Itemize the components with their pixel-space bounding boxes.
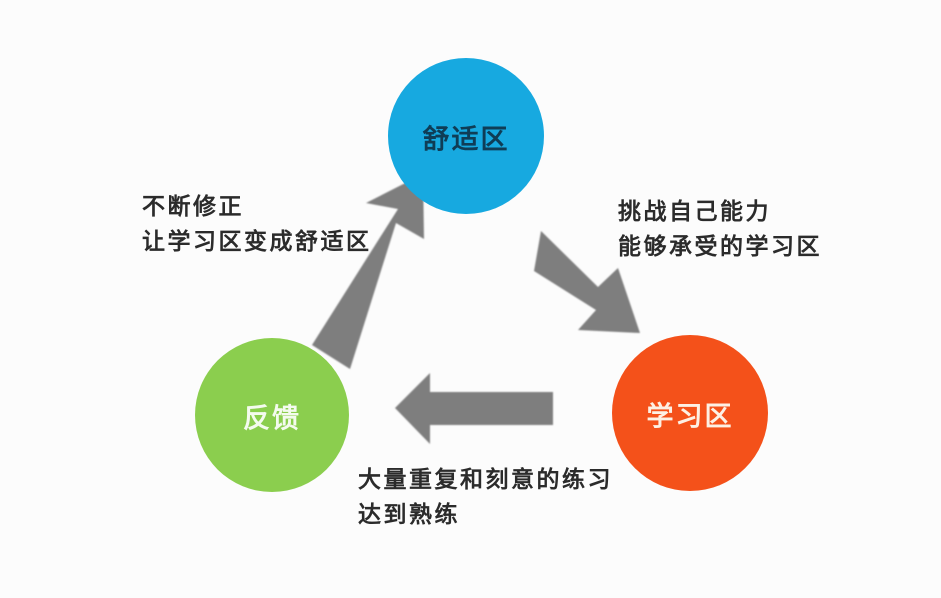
edge-caption-comfort-to-learning: 挑战自己能力 能够承受的学习区 xyxy=(618,195,822,264)
edge-caption-learning-to-feedback: 大量重复和刻意的练习 达到熟练 xyxy=(358,463,613,532)
edge-caption-line: 大量重复和刻意的练习 xyxy=(358,463,613,498)
arrow-learning-to-feedback xyxy=(395,373,553,444)
edge-caption-line: 让学习区变成舒适区 xyxy=(142,225,372,260)
edge-caption-line: 挑战自己能力 xyxy=(618,195,822,230)
edge-caption-feedback-to-comfort: 不断修正 让学习区变成舒适区 xyxy=(142,190,372,259)
node-feedback-circle[interactable] xyxy=(195,338,349,492)
edge-caption-line: 不断修正 xyxy=(142,190,372,225)
diagram-canvas: 舒适区 学习区 反馈 不断修正 让学习区变成舒适区 挑战自己能力 能够承受的学习… xyxy=(0,0,941,598)
edge-caption-line: 能够承受的学习区 xyxy=(618,230,822,265)
node-comfort-circle[interactable] xyxy=(388,58,544,214)
edge-caption-line: 达到熟练 xyxy=(358,498,613,533)
node-learning-circle[interactable] xyxy=(612,335,768,491)
